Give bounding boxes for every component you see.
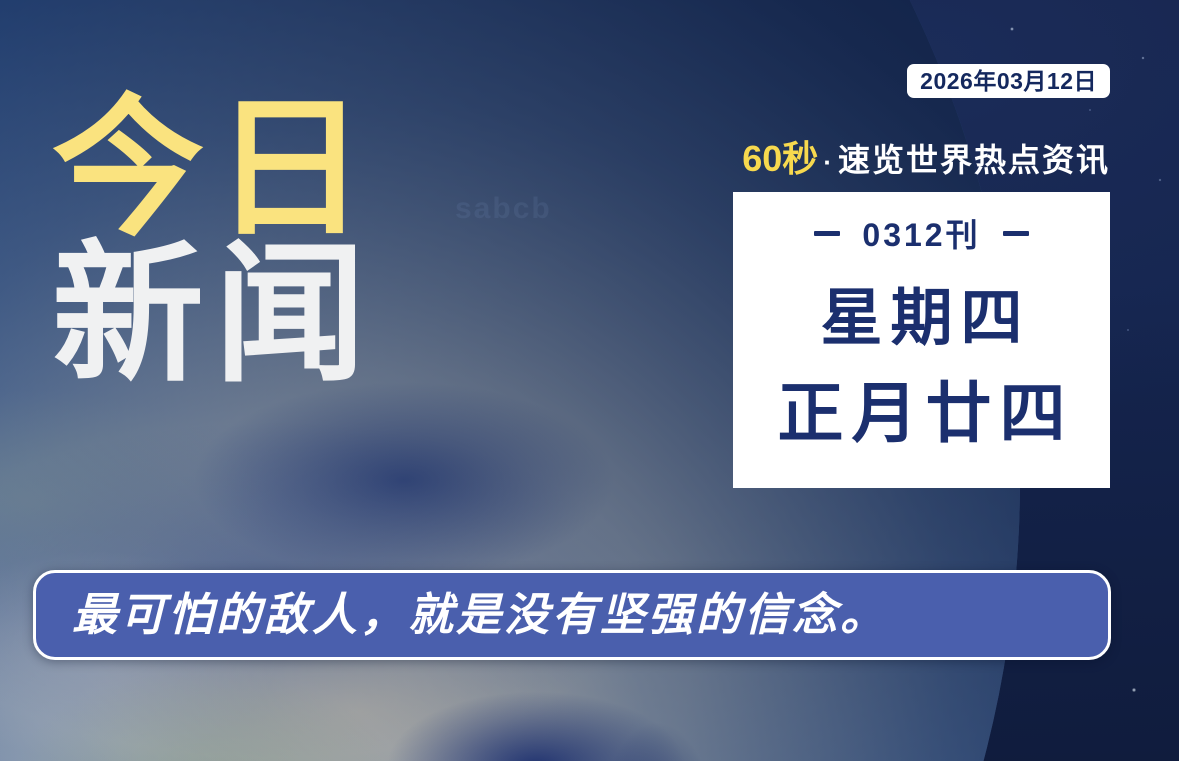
title-line-today: 今日 [52, 96, 482, 242]
tagline: 60秒 · 速览世界热点资讯 [742, 140, 1110, 181]
date-info-card: 0312刊 星期四 正月廿四 [733, 192, 1110, 488]
tagline-seconds: 60秒 [742, 140, 818, 178]
date-badge: 2026年03月12日 [907, 64, 1110, 98]
page-title: 今日 新闻 [52, 96, 482, 388]
tagline-separator-dot: · [823, 143, 833, 181]
issue-label: 0312刊 [862, 210, 980, 256]
tagline-description: 速览世界热点资讯 [838, 141, 1110, 179]
dash-left-icon [814, 231, 840, 236]
lunar-date-label: 正月廿四 [770, 378, 1074, 448]
weekday-label: 星期四 [812, 286, 1030, 352]
dash-right-icon [1003, 231, 1029, 236]
quote-text: 最可怕的敌人，就是没有坚强的信念。 [72, 589, 888, 641]
quote-banner: 最可怕的敌人，就是没有坚强的信念。 [33, 570, 1111, 660]
issue-row: 0312刊 [814, 210, 1028, 256]
title-line-news: 新闻 [52, 242, 482, 388]
news-poster: sabcb 今日 新闻 2026年03月12日 60秒 · 速览世界热点资讯 0… [0, 0, 1179, 761]
